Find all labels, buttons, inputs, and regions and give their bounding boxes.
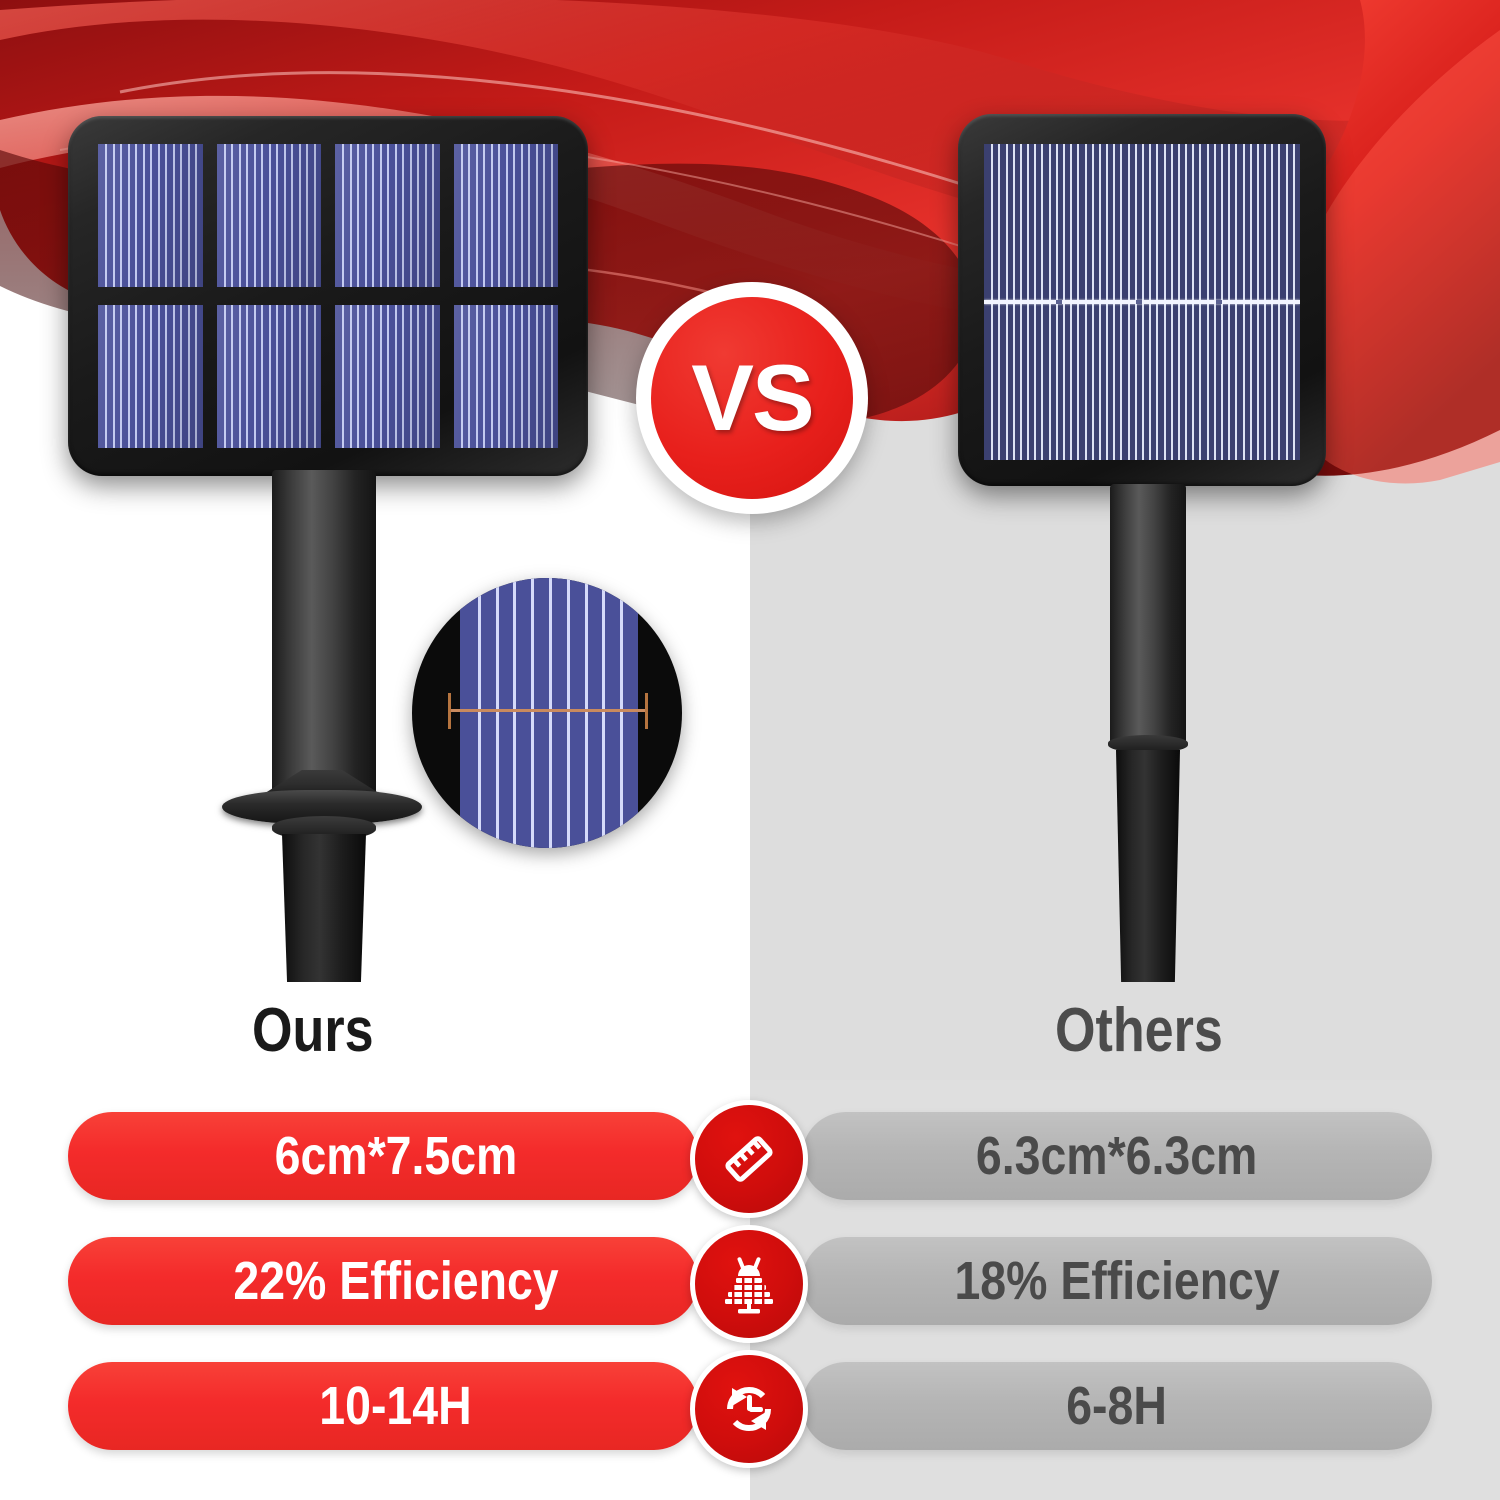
cell-finger [128, 305, 130, 448]
cell-finger [417, 305, 419, 448]
cell-finger [105, 305, 107, 448]
cell-finger [224, 305, 226, 448]
ours-panel-cell [454, 144, 559, 287]
cell-finger [284, 305, 286, 448]
cell-finger [483, 305, 485, 448]
cell-finger [158, 305, 160, 448]
ours-size-value: 6cm*7.5cm [249, 1129, 518, 1183]
cell-finger [432, 305, 434, 448]
cell-finger [521, 144, 523, 287]
cell-finger [395, 305, 397, 448]
cell-finger [476, 144, 478, 287]
cell-finger [150, 305, 152, 448]
cell-finger [528, 144, 530, 287]
cell-finger [239, 305, 241, 448]
cell-finger [314, 144, 316, 287]
ours-panel-cell [335, 305, 440, 448]
cell-finger [380, 305, 382, 448]
cell-finger [365, 305, 367, 448]
cell-finger [551, 144, 553, 287]
cell-finger [165, 144, 167, 287]
cell-finger [387, 144, 389, 287]
cell-finger [113, 305, 115, 448]
ours-panel-cell [217, 144, 322, 287]
busbar-solder-dot [1216, 300, 1222, 304]
ours-ground-stake [282, 834, 366, 982]
ours-panel-cell [335, 144, 440, 287]
vs-badge: VS [636, 282, 868, 514]
cell-finger [299, 305, 301, 448]
cell-finger [432, 144, 434, 287]
cell-finger [291, 305, 293, 448]
cell-finger [342, 305, 344, 448]
ours-solar-panel [68, 116, 588, 476]
ours-panel-cell [98, 305, 203, 448]
ours-runtime-value: 10-14H [294, 1379, 472, 1433]
cell-finger [491, 144, 493, 287]
others-label: Others [1055, 1000, 1223, 1062]
others-busbar [984, 300, 1300, 304]
ours-panel-cells [68, 116, 588, 476]
vs-label: VS [691, 351, 812, 445]
magnified-cell-finger [478, 578, 481, 848]
cell-finger [468, 144, 470, 287]
cell-finger [195, 305, 197, 448]
cell-finger [165, 305, 167, 448]
ours-label: Ours [252, 1000, 374, 1062]
magnified-cell-finger [531, 578, 534, 848]
cell-finger [350, 305, 352, 448]
comparison-row-efficiency: 22% Efficiency 18% Efficiency [0, 1223, 1500, 1348]
cell-finger [246, 144, 248, 287]
cell-finger [536, 305, 538, 448]
cell-finger [113, 144, 115, 287]
cell-finger [246, 305, 248, 448]
magnified-cell-finger [602, 578, 605, 848]
cell-finger [387, 305, 389, 448]
ruler-icon [690, 1100, 808, 1218]
cell-finger [180, 144, 182, 287]
cell-finger [105, 144, 107, 287]
cell-finger [365, 144, 367, 287]
cell-finger [195, 144, 197, 287]
ours-bar-size[interactable]: 6cm*7.5cm [68, 1112, 698, 1200]
cell-finger [342, 144, 344, 287]
cell-finger [425, 305, 427, 448]
cell-finger [461, 305, 463, 448]
cell-finger [506, 305, 508, 448]
others-ground-stake [1116, 750, 1180, 982]
cell-finger [372, 305, 374, 448]
cell-finger [224, 144, 226, 287]
cell-finger [135, 144, 137, 287]
ours-panel-cell [98, 144, 203, 287]
cell-finger [254, 144, 256, 287]
cell-finger [410, 305, 412, 448]
cell-finger [261, 305, 263, 448]
ours-bar-efficiency[interactable]: 22% Efficiency [68, 1237, 698, 1325]
cell-finger [498, 144, 500, 287]
cell-finger [513, 305, 515, 448]
magnifier-tick-right [645, 693, 648, 729]
ours-bar-runtime[interactable]: 10-14H [68, 1362, 698, 1450]
cell-finger [276, 305, 278, 448]
cell-finger [543, 305, 545, 448]
cell-finger [188, 305, 190, 448]
ours-pole [272, 470, 376, 800]
cell-finger [521, 305, 523, 448]
cell-finger [372, 144, 374, 287]
cell-finger [513, 144, 515, 287]
magnifier-tick-left [448, 693, 451, 729]
ours-cell-magnifier [412, 578, 682, 848]
cell-finger [261, 144, 263, 287]
cell-finger [380, 144, 382, 287]
cell-finger [357, 144, 359, 287]
cell-finger [543, 144, 545, 287]
infographic-stage: VS Ours Others 6cm*7.5cm 6.3cm*6.3cm [0, 0, 1500, 1500]
cell-finger [551, 305, 553, 448]
cell-finger [468, 305, 470, 448]
cell-finger [158, 144, 160, 287]
cell-finger [491, 305, 493, 448]
others-pole [1110, 484, 1186, 746]
cell-finger [120, 144, 122, 287]
magnified-busbar [448, 709, 648, 712]
others-size-value: 6.3cm*6.3cm [976, 1129, 1257, 1183]
comparison-row-size: 6cm*7.5cm 6.3cm*6.3cm [0, 1098, 1500, 1223]
cell-finger [120, 305, 122, 448]
cell-finger [231, 144, 233, 287]
others-bar-size[interactable]: 6.3cm*6.3cm [802, 1112, 1432, 1200]
magnified-cell-finger [496, 578, 499, 848]
cell-finger [498, 305, 500, 448]
comparison-row-runtime: 10-14H 6-8H [0, 1348, 1500, 1473]
cell-finger [402, 305, 404, 448]
magnified-cell [460, 578, 638, 848]
cell-finger [128, 144, 130, 287]
others-bar-runtime[interactable]: 6-8H [802, 1362, 1432, 1450]
cell-finger [417, 144, 419, 287]
magnified-cell-finger [620, 578, 623, 848]
cell-finger [173, 305, 175, 448]
vs-badge-circle: VS [651, 297, 853, 499]
cell-finger [173, 144, 175, 287]
others-efficiency-value: 18% Efficiency [954, 1254, 1279, 1308]
cell-finger [143, 144, 145, 287]
solar-panel-icon [690, 1225, 808, 1343]
cell-finger [410, 144, 412, 287]
cell-finger [476, 305, 478, 448]
comparison-rows: 6cm*7.5cm 6.3cm*6.3cm [0, 1098, 1500, 1473]
cell-finger [239, 144, 241, 287]
cell-finger [483, 144, 485, 287]
cell-finger [135, 305, 137, 448]
magnified-cell-finger [567, 578, 570, 848]
busbar-solder-dot [1056, 300, 1062, 304]
ours-panel-cell [217, 305, 322, 448]
busbar-solder-dot [1136, 300, 1142, 304]
others-runtime-value: 6-8H [1067, 1379, 1168, 1433]
magnified-cell-finger [549, 578, 552, 848]
clock-refresh-icon [690, 1350, 808, 1468]
cell-finger [231, 305, 233, 448]
magnified-cell-finger [513, 578, 516, 848]
cell-finger [276, 144, 278, 287]
cell-finger [188, 144, 190, 287]
cell-finger [306, 305, 308, 448]
cell-finger [269, 305, 271, 448]
cell-finger [143, 305, 145, 448]
others-bar-efficiency[interactable]: 18% Efficiency [802, 1237, 1432, 1325]
others-panel-cell [984, 144, 1300, 460]
cell-finger [254, 305, 256, 448]
ours-panel-cell [454, 305, 559, 448]
cell-finger [150, 144, 152, 287]
cell-finger [425, 144, 427, 287]
cell-finger [299, 144, 301, 287]
cell-finger [357, 305, 359, 448]
magnified-cell-finger [585, 578, 588, 848]
cell-finger [528, 305, 530, 448]
cell-finger [291, 144, 293, 287]
cell-finger [284, 144, 286, 287]
cell-finger [180, 305, 182, 448]
others-solar-panel [958, 114, 1326, 486]
cell-finger [402, 144, 404, 287]
ours-efficiency-value: 22% Efficiency [207, 1254, 558, 1308]
cell-finger [536, 144, 538, 287]
cell-finger [461, 144, 463, 287]
cell-finger [395, 144, 397, 287]
cell-finger [306, 144, 308, 287]
cell-finger [506, 144, 508, 287]
cell-finger [314, 305, 316, 448]
cell-finger [269, 144, 271, 287]
cell-finger [350, 144, 352, 287]
